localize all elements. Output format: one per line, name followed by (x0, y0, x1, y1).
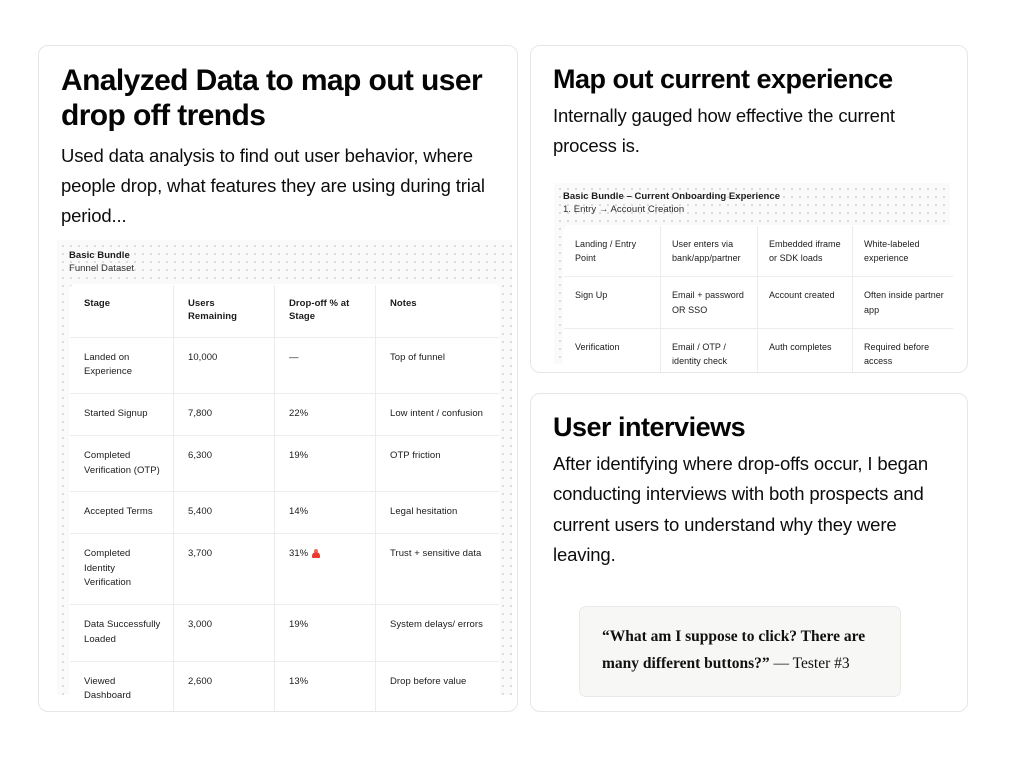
cell-stage: Accepted Terms (70, 492, 174, 534)
onboarding-journey-table: Landing / Entry PointUser enters via ban… (563, 225, 954, 373)
tester-quote-attribution: — Tester #3 (770, 655, 850, 672)
cell-step: Verification (564, 328, 661, 373)
cell-users-remaining: 3,000 (174, 605, 275, 661)
table-row: VerificationEmail / OTP / identity check… (564, 328, 954, 373)
cell-stage: Completed Verification (OTP) (70, 435, 174, 491)
cell-dropoff: 14% (275, 492, 376, 534)
cell-users-remaining: 2,600 (174, 661, 275, 712)
cell-users-remaining: 6,300 (174, 435, 275, 491)
card-analyzed-data: Analyzed Data to map out user drop off t… (38, 45, 518, 712)
funnel-dataset-panel: Basic Bundle Funnel Dataset Stage Users … (57, 240, 512, 695)
funnel-panel-title: Basic Bundle (69, 249, 512, 262)
cell-notes: Legal hesitation (376, 492, 500, 534)
cell-system: Auth completes (758, 328, 853, 373)
table-row: Landed on Experience10,000—Top of funnel (70, 337, 500, 393)
map-experience-title: Map out current experience (553, 64, 945, 94)
cell-action: Email + password OR SSO (661, 277, 758, 328)
cell-dropoff: 22% (275, 394, 376, 436)
cell-notes: OTP friction (376, 435, 500, 491)
cell-users-remaining: 5,400 (174, 492, 275, 534)
user-interviews-header: User interviews After identifying where … (531, 394, 967, 570)
cell-notes: Top of funnel (376, 337, 500, 393)
cell-users-remaining: 10,000 (174, 337, 275, 393)
journey-panel-subtitle: 1. Entry → Account Creation (563, 203, 950, 216)
funnel-table: Stage Users Remaining Drop-off % at Stag… (69, 284, 500, 712)
map-experience-body: Internally gauged how effective the curr… (553, 101, 945, 161)
onboarding-journey-panel: Basic Bundle – Current Onboarding Experi… (554, 183, 950, 364)
cell-action: User enters via bank/app/partner (661, 226, 758, 277)
cell-notes: System delays/ errors (376, 605, 500, 661)
tester-quote-block: “What am I suppose to click? There are m… (579, 606, 901, 697)
cell-users-remaining: 7,800 (174, 394, 275, 436)
cell-stage: Started Signup (70, 394, 174, 436)
table-row: Data Successfully Loaded3,00019%System d… (70, 605, 500, 661)
cell-dropoff: — (275, 337, 376, 393)
table-row: Landing / Entry PointUser enters via ban… (564, 226, 954, 277)
table-header-row: Stage Users Remaining Drop-off % at Stag… (70, 285, 500, 338)
analyzed-data-body: Used data analysis to find out user beha… (61, 141, 495, 231)
cell-dropoff: 31% (275, 533, 376, 604)
analyzed-data-header: Analyzed Data to map out user drop off t… (39, 46, 517, 231)
table-row: Accepted Terms5,40014%Legal hesitation (70, 492, 500, 534)
table-row: Completed Identity Verification3,70031%T… (70, 533, 500, 604)
slide-canvas: Analyzed Data to map out user drop off t… (0, 0, 1024, 768)
cell-stage: Data Successfully Loaded (70, 605, 174, 661)
cell-notes: Low intent / confusion (376, 394, 500, 436)
user-interviews-title: User interviews (553, 412, 945, 442)
table-row: Viewed Dashboard2,60013%Drop before valu… (70, 661, 500, 712)
cell-step: Sign Up (564, 277, 661, 328)
cell-stage: Landed on Experience (70, 337, 174, 393)
cell-stage: Viewed Dashboard (70, 661, 174, 712)
card-map-experience: Map out current experience Internally ga… (530, 45, 968, 373)
cell-note: White-labeled experience (853, 226, 954, 277)
table-row: Started Signup7,80022%Low intent / confu… (70, 394, 500, 436)
user-interviews-body: After identifying where drop-offs occur,… (553, 449, 945, 570)
cell-dropoff: 19% (275, 605, 376, 661)
cell-notes: Drop before value (376, 661, 500, 712)
cell-step: Landing / Entry Point (564, 226, 661, 277)
map-experience-header: Map out current experience Internally ga… (531, 46, 967, 162)
table-row: Sign UpEmail + password OR SSOAccount cr… (564, 277, 954, 328)
cell-users-remaining: 3,700 (174, 533, 275, 604)
cell-note: Required before access (853, 328, 954, 373)
card-user-interviews: User interviews After identifying where … (530, 393, 968, 712)
tester-quote: “What am I suppose to click? There are m… (602, 624, 878, 677)
column-header-stage: Stage (70, 285, 174, 338)
journey-panel-title: Basic Bundle – Current Onboarding Experi… (563, 190, 950, 203)
column-header-users-remaining: Users Remaining (174, 285, 275, 338)
cell-system: Account created (758, 277, 853, 328)
funnel-panel-subtitle: Funnel Dataset (69, 262, 512, 275)
alarm-icon (312, 549, 320, 559)
cell-system: Embedded iframe or SDK loads (758, 226, 853, 277)
cell-action: Email / OTP / identity check (661, 328, 758, 373)
page-title: Analyzed Data to map out user drop off t… (61, 64, 495, 134)
cell-dropoff: 13% (275, 661, 376, 712)
cell-note: Often inside partner app (853, 277, 954, 328)
column-header-notes: Notes (376, 285, 500, 338)
table-row: Completed Verification (OTP)6,30019%OTP … (70, 435, 500, 491)
cell-stage: Completed Identity Verification (70, 533, 174, 604)
cell-notes: Trust + sensitive data (376, 533, 500, 604)
column-header-dropoff: Drop-off % at Stage (275, 285, 376, 338)
cell-dropoff: 19% (275, 435, 376, 491)
